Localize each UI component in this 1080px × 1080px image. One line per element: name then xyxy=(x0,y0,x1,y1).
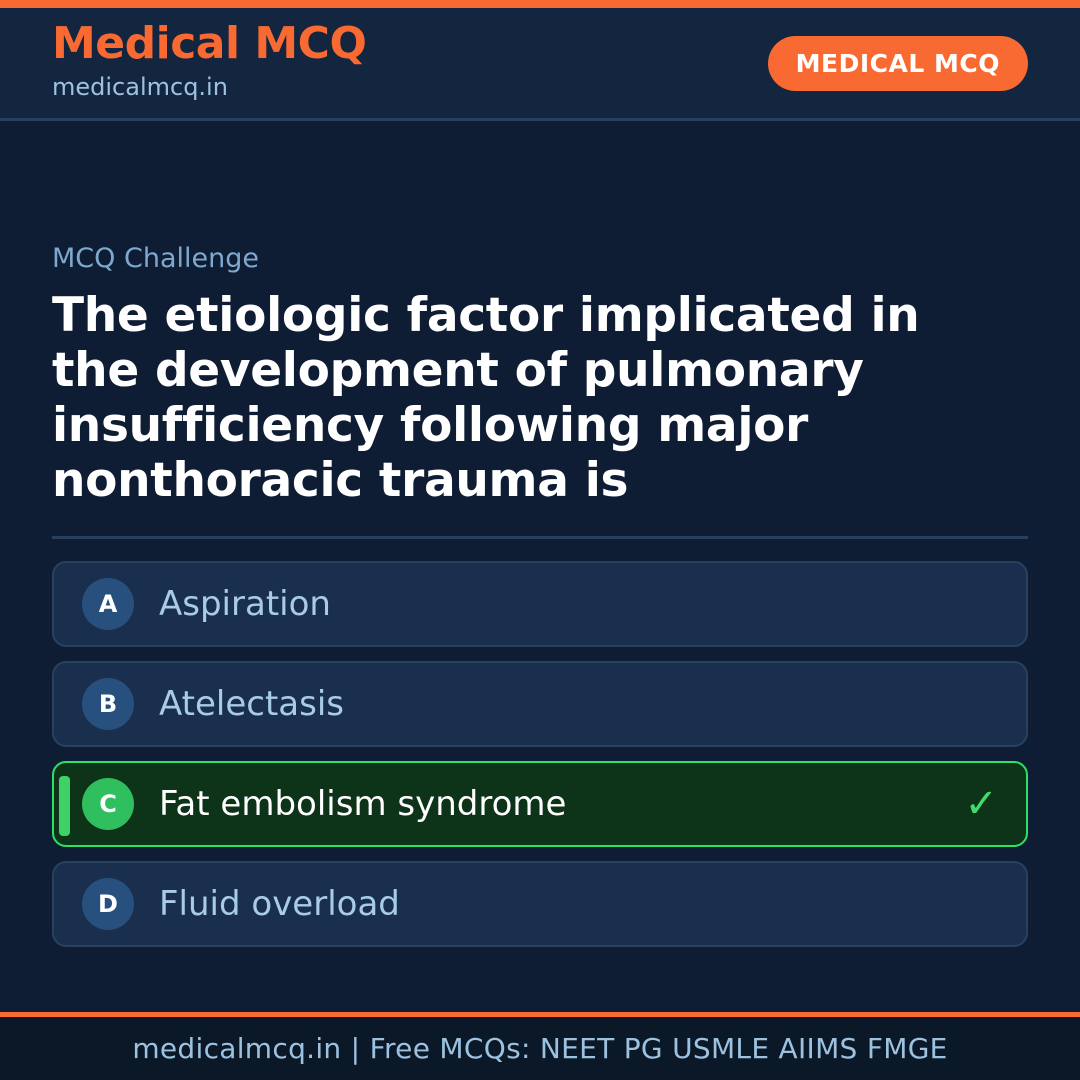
option-label: Atelectasis xyxy=(159,686,344,723)
option-label: Aspiration xyxy=(159,586,331,623)
option-letter-badge: A xyxy=(82,578,134,630)
brand-badge: MEDICAL MCQ xyxy=(768,36,1028,91)
option-c[interactable]: C Fat embolism syndrome ✓ xyxy=(52,761,1028,847)
main-content: MCQ Challenge The etiologic factor impli… xyxy=(0,121,1080,1012)
option-letter-badge: C xyxy=(82,778,134,830)
footer: medicalmcq.in | Free MCQs: NEET PG USMLE… xyxy=(0,1017,1080,1080)
brand-title: Medical MCQ xyxy=(52,21,366,67)
option-a[interactable]: A Aspiration xyxy=(52,561,1028,647)
options-list: A Aspiration B Atelectasis C Fat embolis… xyxy=(52,561,1028,947)
option-letter-badge: B xyxy=(82,678,134,730)
question-text: The etiologic factor implicated in the d… xyxy=(52,288,1012,508)
header: Medical MCQ medicalmcq.in MEDICAL MCQ xyxy=(0,8,1080,121)
option-b[interactable]: B Atelectasis xyxy=(52,661,1028,747)
correct-accent-bar xyxy=(59,776,70,836)
footer-text: medicalmcq.in | Free MCQs: NEET PG USMLE… xyxy=(132,1032,947,1065)
option-d[interactable]: D Fluid overload xyxy=(52,861,1028,947)
question-divider xyxy=(52,536,1028,539)
brand-subtitle: medicalmcq.in xyxy=(52,69,366,105)
mcq-card: Medical MCQ medicalmcq.in MEDICAL MCQ MC… xyxy=(0,0,1080,1080)
check-icon: ✓ xyxy=(964,784,998,824)
option-label: Fluid overload xyxy=(159,886,400,923)
top-accent-bar xyxy=(0,0,1080,8)
option-letter-badge: D xyxy=(82,878,134,930)
kicker-label: MCQ Challenge xyxy=(52,243,1028,275)
option-label: Fat embolism syndrome xyxy=(159,786,566,823)
brand: Medical MCQ medicalmcq.in xyxy=(52,21,366,105)
